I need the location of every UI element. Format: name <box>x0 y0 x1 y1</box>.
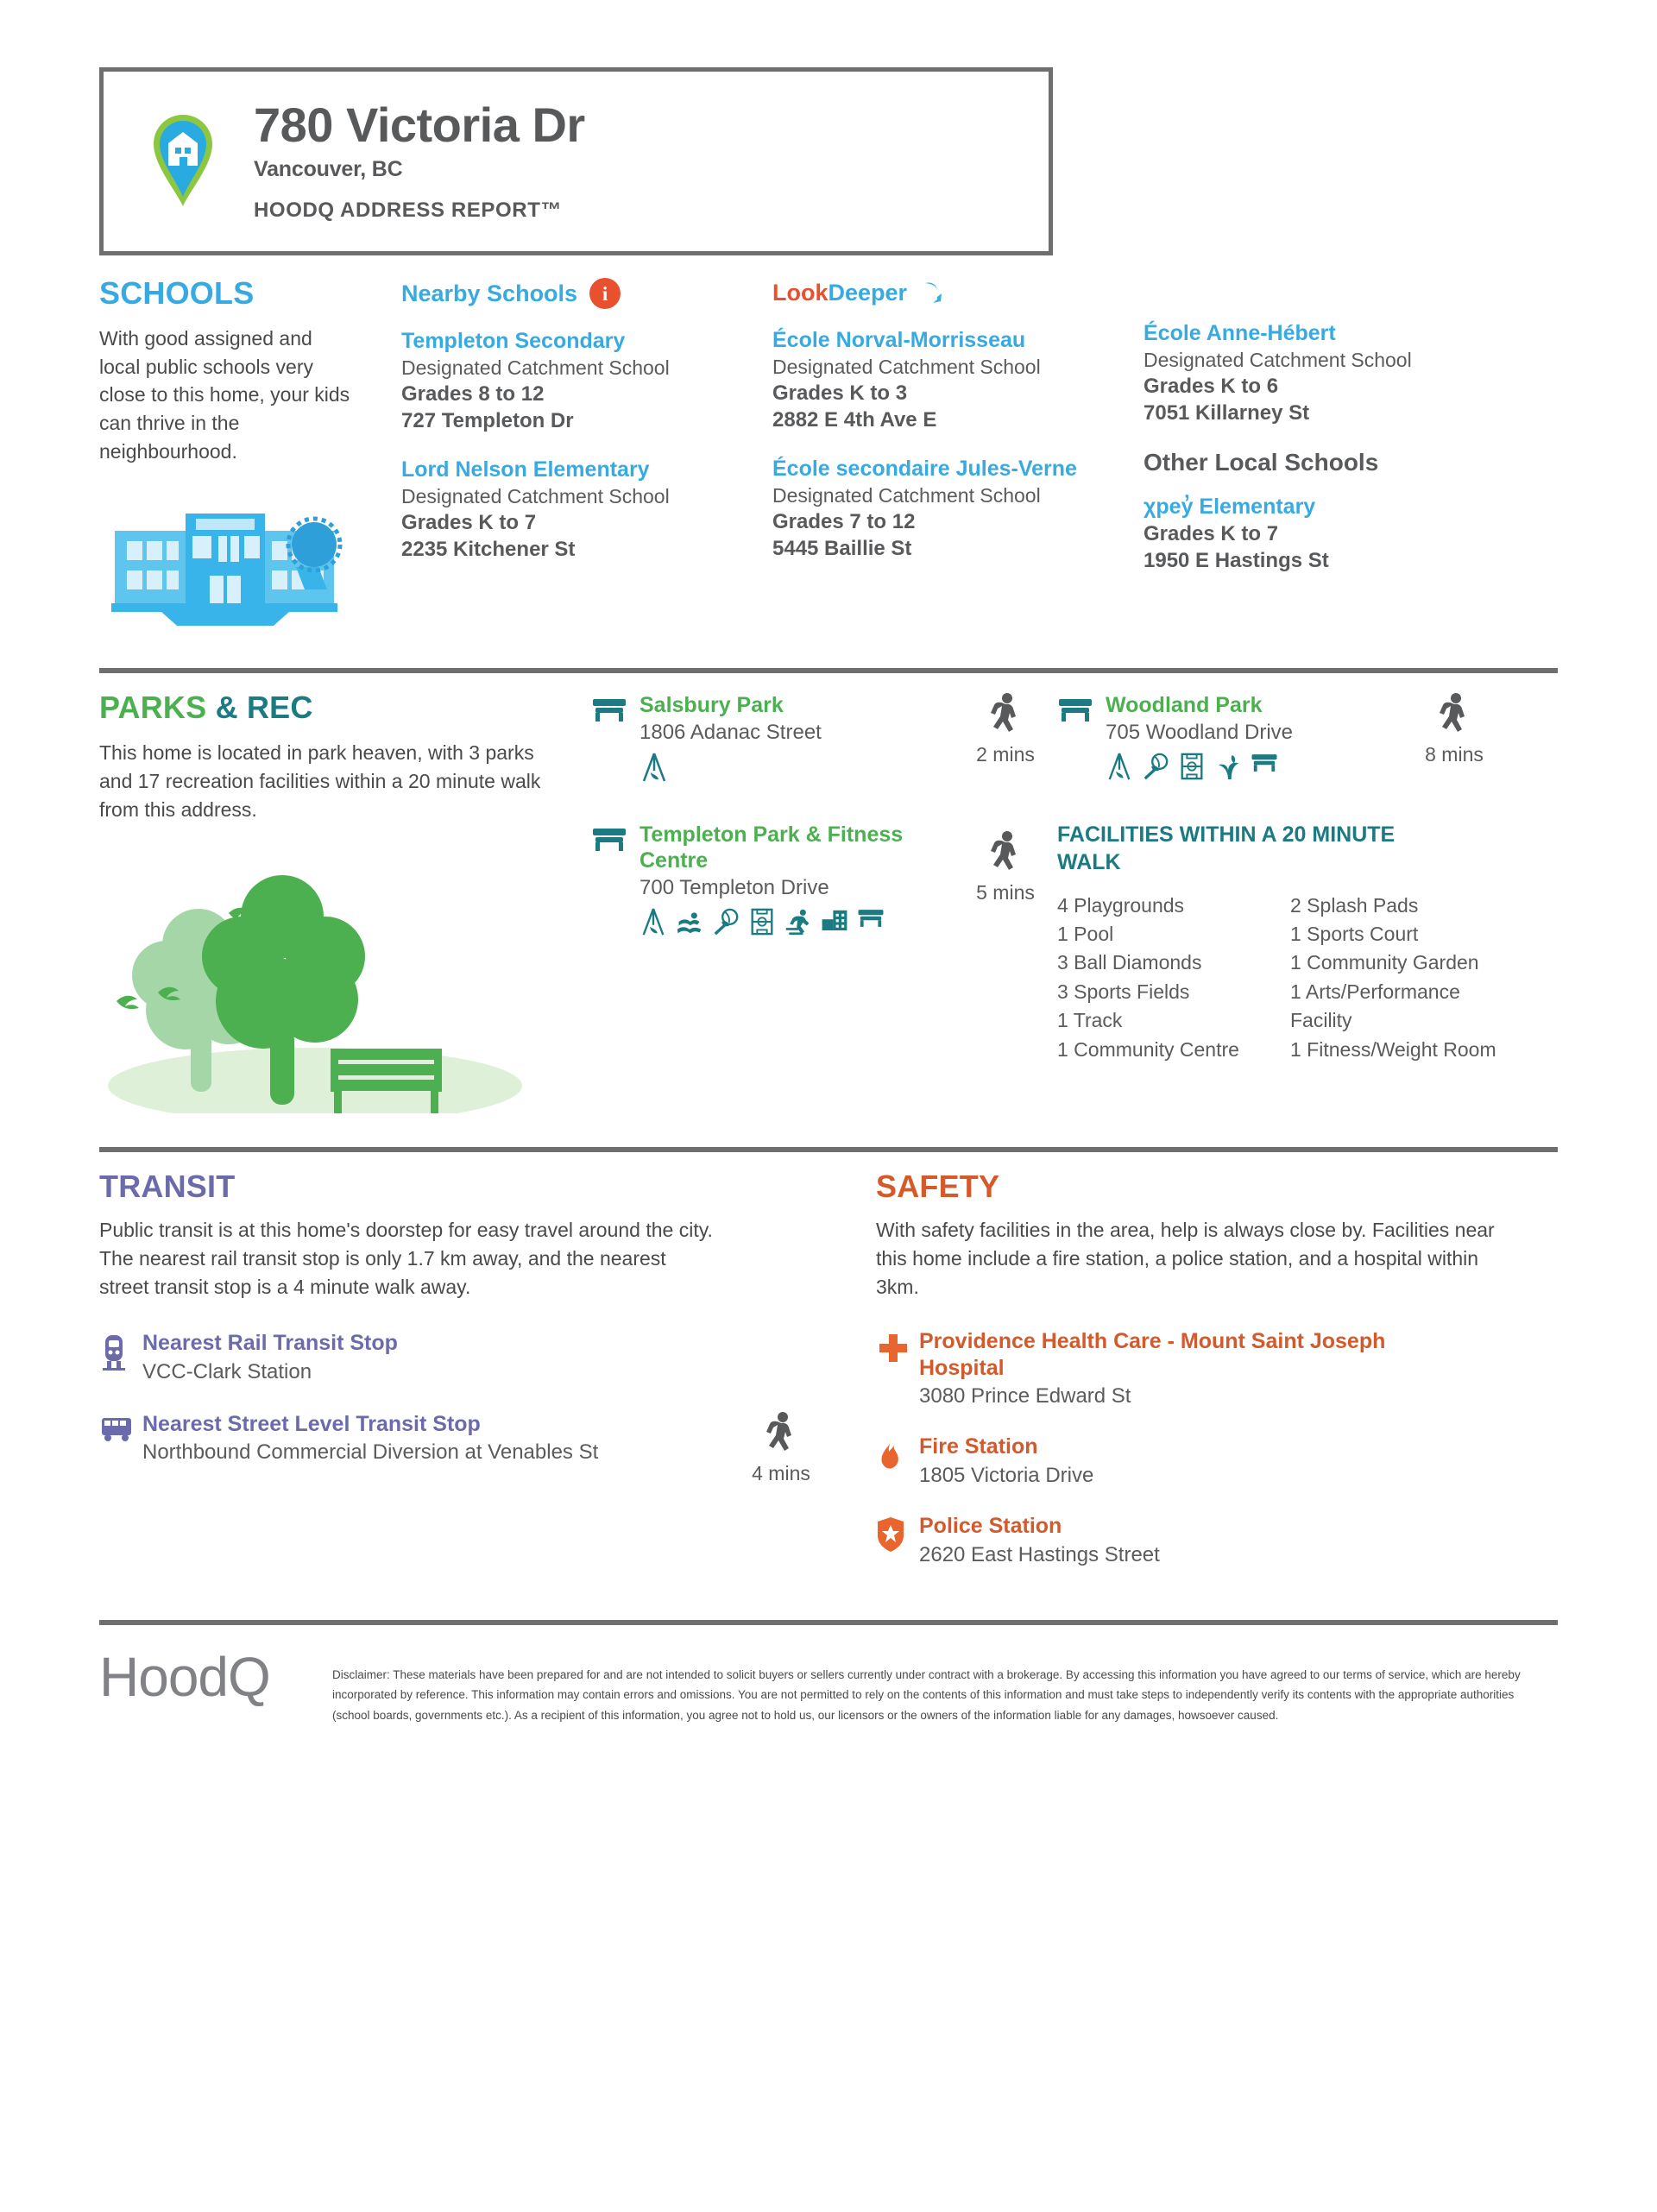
hoodq-logo: HoodQ <box>99 1649 332 1726</box>
facility-item: 1 Sports Court <box>1290 920 1523 948</box>
transit-stop-entry[interactable]: Nearest Street Level Transit Stop Northb… <box>99 1411 833 1485</box>
safety-section: SAFETY With safety facilities in the are… <box>833 1171 1558 1568</box>
safety-name: Police Station <box>919 1513 1558 1540</box>
track-running-icon <box>784 907 812 941</box>
schools-section: SCHOOLS With good assigned and local pub… <box>99 255 1558 637</box>
school-name: Templeton Secondary <box>401 328 750 354</box>
lookdeeper-look-label: Look <box>772 280 828 306</box>
park-entry[interactable]: Templeton Park & Fitness Centre 700 Temp… <box>591 822 954 1064</box>
school-item[interactable]: Lord Nelson Elementary Designated Catchm… <box>401 457 750 563</box>
train-icon <box>99 1330 142 1385</box>
parks-title-part2: & REC <box>216 690 313 725</box>
lookdeeper-deeper-label: Deeper <box>828 280 908 306</box>
lookdeeper-heading[interactable]: LookDeeper <box>772 278 1121 308</box>
transit-title: TRANSIT <box>99 1171 833 1202</box>
report-type-label: HOODQ ADDRESS REPORT™ <box>254 199 585 223</box>
sports-field-icon <box>748 907 776 941</box>
school-item[interactable]: École Anne-Hébert Designated Catchment S… <box>1144 320 1466 426</box>
playground-icon <box>639 907 667 941</box>
school-address: 7051 Killarney St <box>1144 400 1466 427</box>
medical-cross-icon <box>876 1328 919 1409</box>
safety-name: Providence Health Care - Mount Saint Jos… <box>919 1328 1454 1381</box>
school-grades: Grades 8 to 12 <box>401 381 750 408</box>
parks-intro: PARKS & REC This home is located in park… <box>99 692 583 1118</box>
school-designation: Designated Catchment School <box>1144 348 1466 374</box>
walk-time: 8 mins <box>1402 692 1506 787</box>
police-badge-icon <box>876 1513 919 1568</box>
flame-icon <box>876 1434 919 1489</box>
walking-person-icon <box>1437 692 1471 741</box>
parks-rec-section: PARKS & REC This home is located in park… <box>99 673 1558 1118</box>
facility-item: 2 Splash Pads <box>1290 892 1523 920</box>
school-item[interactable]: χpey̓ Elementary Grades K to 7 1950 E Ha… <box>1144 494 1466 574</box>
facility-item: 1 Community Garden <box>1290 948 1523 977</box>
safety-blurb: With safety facilities in the area, help… <box>876 1216 1497 1301</box>
baseball-icon <box>1142 752 1169 785</box>
page-title: 780 Victoria Dr <box>254 100 585 151</box>
school-building-illustration <box>99 495 384 637</box>
park-amenities <box>639 752 898 787</box>
school-name: École Norval-Morrisseau <box>772 327 1121 353</box>
pool-icon <box>676 907 703 941</box>
walk-minutes: 2 mins <box>976 743 1035 766</box>
disclaimer-text: Disclaimer: These materials have been pr… <box>332 1649 1540 1726</box>
school-name: École Anne-Hébert <box>1144 320 1466 346</box>
bus-icon <box>99 1411 142 1485</box>
park-entry[interactable]: Woodland Park 705 Woodland Drive <box>1057 692 1402 787</box>
parks-title: PARKS & REC <box>99 692 583 723</box>
schools-columns: Nearby Schools i Templeton Secondary Des… <box>384 278 1558 637</box>
safety-title: SAFETY <box>876 1171 1558 1202</box>
other-local-schools-heading: Other Local Schools <box>1144 449 1466 476</box>
safety-address: 1805 Victoria Drive <box>919 1462 1437 1489</box>
walk-time: 2 mins <box>954 692 1057 787</box>
schools-column-nearby: Nearby Schools i Templeton Secondary Des… <box>401 278 772 637</box>
transit-safety-section: TRANSIT Public transit is at this home's… <box>99 1152 1558 1568</box>
facilities-heading: FACILITIES WITHIN A 20 MINUTE WALK <box>1057 822 1463 876</box>
park-row: Salsbury Park 1806 Adanac Street 2 mins <box>591 692 1558 787</box>
facility-item: 1 Arts/Performance Facility <box>1290 978 1523 1036</box>
school-name: École secondaire Jules-Verne <box>772 456 1121 482</box>
baseball-icon <box>712 907 740 941</box>
nearby-schools-heading: Nearby Schools i <box>401 278 750 309</box>
safety-name: Fire Station <box>919 1434 1558 1460</box>
school-designation: Designated Catchment School <box>401 484 750 510</box>
school-designation: Designated Catchment School <box>772 355 1121 381</box>
school-designation: Designated Catchment School <box>401 356 750 381</box>
safety-address: 3080 Prince Edward St <box>919 1383 1437 1409</box>
parks-title-part1: PARKS <box>99 690 206 725</box>
park-entry[interactable]: Salsbury Park 1806 Adanac Street <box>591 692 954 787</box>
park-row: Templeton Park & Fitness Centre 700 Temp… <box>591 822 1558 1064</box>
school-item[interactable]: Templeton Secondary Designated Catchment… <box>401 328 750 434</box>
facility-item: 1 Pool <box>1057 920 1290 948</box>
transit-stop-label: Nearest Rail Transit Stop <box>142 1330 729 1357</box>
school-name: Lord Nelson Elementary <box>401 457 750 482</box>
school-address: 2882 E 4th Ave E <box>772 407 1121 434</box>
walk-minutes: 8 mins <box>1425 743 1484 766</box>
park-bench-icon <box>591 692 631 787</box>
park-bench-icon <box>591 822 631 1064</box>
report-footer: HoodQ Disclaimer: These materials have b… <box>99 1625 1558 1726</box>
transit-stop-value: Northbound Commercial Diversion at Venab… <box>142 1439 626 1465</box>
school-grades: Grades K to 7 <box>401 510 750 537</box>
school-address: 2235 Kitchener St <box>401 537 750 564</box>
walking-person-icon <box>988 692 1023 741</box>
park-name: Woodland Park <box>1106 692 1364 718</box>
school-address: 727 Templeton Dr <box>401 408 750 435</box>
park-bench-icon <box>1057 692 1097 787</box>
school-designation: Designated Catchment School <box>772 483 1121 509</box>
facility-item: 1 Fitness/Weight Room <box>1290 1036 1523 1064</box>
park-address: 705 Woodland Drive <box>1106 721 1364 745</box>
parks-blurb: This home is located in park heaven, wit… <box>99 739 565 823</box>
park-name: Salsbury Park <box>639 692 898 718</box>
school-grades: Grades 7 to 12 <box>772 509 1121 536</box>
walking-person-icon <box>988 830 1023 879</box>
safety-entry[interactable]: Police Station 2620 East Hastings Street <box>876 1513 1558 1568</box>
park-amenities <box>639 907 898 941</box>
school-item[interactable]: École secondaire Jules-Verne Designated … <box>772 456 1121 562</box>
playground-icon <box>639 752 669 787</box>
school-item[interactable]: École Norval-Morrisseau Designated Catch… <box>772 327 1121 433</box>
parks-listings: Salsbury Park 1806 Adanac Street 2 mins <box>583 692 1558 1118</box>
transit-stop-entry[interactable]: Nearest Rail Transit Stop VCC-Clark Stat… <box>99 1330 833 1385</box>
facility-item: 1 Track <box>1057 1006 1290 1035</box>
transit-stop-value: VCC-Clark Station <box>142 1358 660 1385</box>
safety-entry[interactable]: Providence Health Care - Mount Saint Jos… <box>876 1328 1558 1409</box>
facility-item: 4 Playgrounds <box>1057 892 1290 920</box>
schools-blurb: With good assigned and local public scho… <box>99 325 358 465</box>
picnic-table-icon <box>857 907 885 941</box>
park-address: 1806 Adanac Street <box>639 721 898 745</box>
facilities-column-1: 4 Playgrounds 1 Pool 3 Ball Diamonds 3 S… <box>1057 892 1290 1064</box>
walk-time: 5 mins <box>954 822 1057 1064</box>
info-icon[interactable]: i <box>589 278 621 309</box>
schools-column-lookdeeper: LookDeeper École Norval-Morrisseau Desig… <box>772 278 1144 637</box>
walk-time: 4 mins <box>729 1411 833 1485</box>
park-trees-bench-illustration <box>99 863 583 1118</box>
school-grades: Grades K to 3 <box>772 381 1121 407</box>
school-grades: Grades K to 6 <box>1144 374 1466 400</box>
park-amenities <box>1106 752 1364 785</box>
school-name: χpey̓ Elementary <box>1144 494 1466 520</box>
facilities-block: FACILITIES WITHIN A 20 MINUTE WALK 4 Pla… <box>1057 822 1558 1064</box>
safety-address: 2620 East Hastings Street <box>919 1541 1437 1568</box>
schools-title: SCHOOLS <box>99 278 384 309</box>
facility-item: 3 Sports Fields <box>1057 978 1290 1006</box>
transit-section: TRANSIT Public transit is at this home's… <box>99 1171 833 1568</box>
report-header: 780 Victoria Dr Vancouver, BC HOODQ ADDR… <box>99 67 1053 255</box>
garden-icon <box>1214 752 1242 785</box>
walk-minutes: 5 mins <box>976 881 1035 904</box>
walk-minutes: 4 mins <box>729 1462 833 1485</box>
curved-down-arrow-icon[interactable] <box>919 278 945 308</box>
community-centre-icon <box>821 907 848 941</box>
facilities-column-2: 2 Splash Pads 1 Sports Court 1 Community… <box>1290 892 1523 1064</box>
school-address: 1950 E Hastings St <box>1144 548 1466 575</box>
sports-field-icon <box>1178 752 1206 785</box>
playground-icon <box>1106 752 1133 785</box>
facility-item: 3 Ball Diamonds <box>1057 948 1290 977</box>
city-subtitle: Vancouver, BC <box>254 157 585 182</box>
walking-person-icon <box>764 1445 798 1459</box>
nearby-schools-label: Nearby Schools <box>401 282 577 306</box>
park-name: Templeton Park & Fitness Centre <box>639 822 907 873</box>
picnic-table-icon <box>1251 752 1278 785</box>
schools-intro: SCHOOLS With good assigned and local pub… <box>99 278 384 637</box>
safety-entry[interactable]: Fire Station 1805 Victoria Drive <box>876 1434 1558 1489</box>
transit-blurb: Public transit is at this home's doorste… <box>99 1216 721 1301</box>
facility-item: 1 Community Centre <box>1057 1036 1290 1064</box>
school-grades: Grades K to 7 <box>1144 521 1466 548</box>
park-address: 700 Templeton Drive <box>639 876 907 900</box>
map-pin-home-icon <box>131 113 235 210</box>
schools-column-other: École Anne-Hébert Designated Catchment S… <box>1144 278 1489 637</box>
school-address: 5445 Baillie St <box>772 536 1121 563</box>
address-report-page: 780 Victoria Dr Vancouver, BC HOODQ ADDR… <box>0 67 1657 2212</box>
transit-stop-label: Nearest Street Level Transit Stop <box>142 1411 729 1438</box>
